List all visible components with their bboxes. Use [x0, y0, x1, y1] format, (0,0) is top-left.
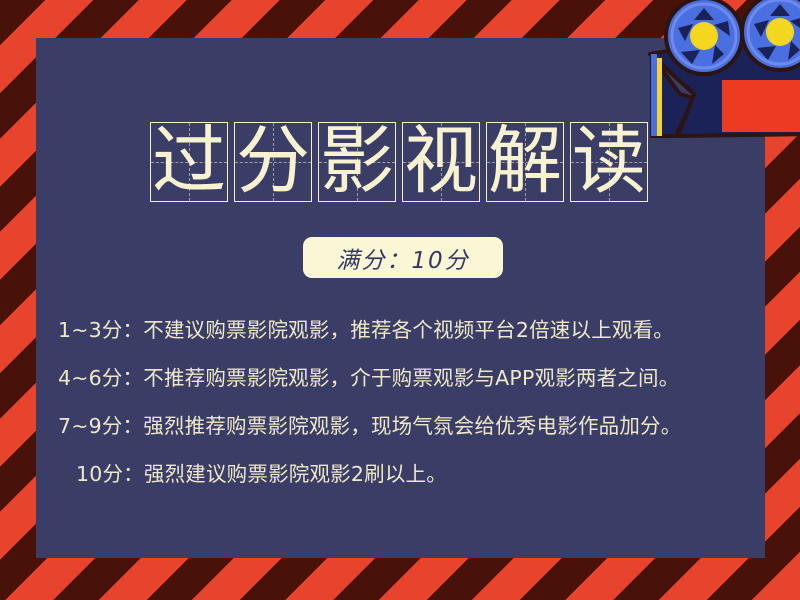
projector-lens-edge-blue — [651, 54, 657, 136]
rating-scale-item: 4~6分：不推荐购票影院观影，介于购票观影与APP观影两者之间。 — [58, 354, 748, 402]
rating-scale-item: 10分：强烈建议购票影院观影2刷以上。 — [58, 450, 748, 498]
projector-lens-edge-yellow — [657, 58, 662, 136]
max-score-badge: 满分：10分 — [303, 237, 503, 278]
title-char-cell-4: 视 — [402, 122, 480, 202]
poster-canvas: 过 分 影 视 解 读 满分：10分 — [0, 0, 800, 600]
max-score-badge-label: 满分：10分 — [336, 241, 469, 275]
rating-scale-list: 1~3分：不建议购票影院观影，推荐各个视频平台2倍速以上观看。 4~6分：不推荐… — [58, 306, 748, 498]
projector-red-panel — [722, 80, 800, 132]
title-character: 分 — [235, 122, 311, 200]
title-char-cell-1: 过 — [150, 122, 228, 202]
rating-scale-item: 1~3分：不建议购票影院观影，推荐各个视频平台2倍速以上观看。 — [58, 306, 748, 354]
title-character: 影 — [319, 122, 395, 200]
title-char-cell-3: 影 — [318, 122, 396, 202]
title-char-cell-5: 解 — [486, 122, 564, 202]
title-character: 过 — [151, 122, 227, 200]
film-reel-left — [666, 0, 742, 74]
title-char-cell-2: 分 — [234, 122, 312, 202]
title-character: 解 — [487, 122, 563, 200]
movie-projector-icon — [636, 0, 800, 144]
rating-scale-item: 7~9分：强烈推荐购票影院观影，现场气氛会给优秀电影作品加分。 — [58, 402, 748, 450]
page-title: 过 分 影 视 解 读 — [150, 122, 648, 202]
title-character: 视 — [403, 122, 479, 200]
